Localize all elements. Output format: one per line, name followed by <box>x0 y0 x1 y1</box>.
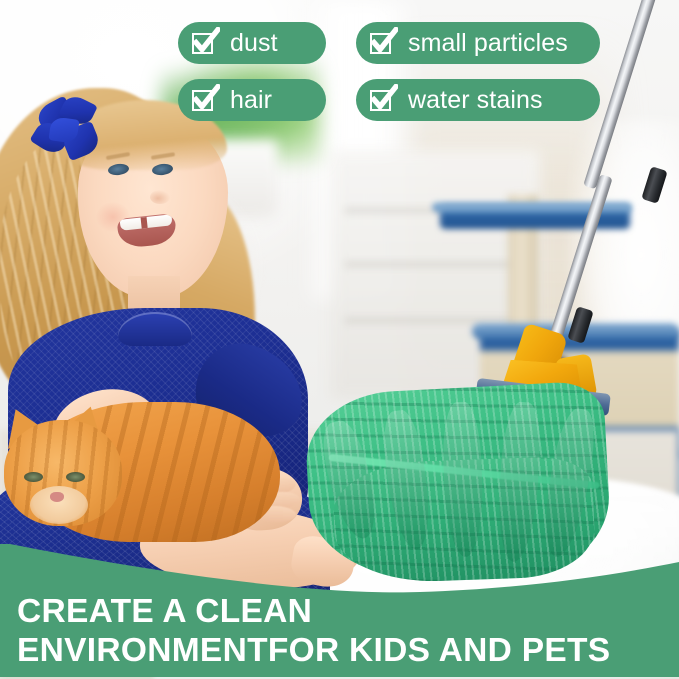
feature-badge-label: hair <box>230 86 272 115</box>
feature-badge-dust[interactable]: dust <box>178 22 326 64</box>
feature-badge-row: dust small particles <box>178 22 608 64</box>
checkbox-checked-icon <box>370 88 395 113</box>
feature-badge-hair[interactable]: hair <box>178 79 326 121</box>
checkbox-checked-icon <box>192 31 217 56</box>
mop-handle-collar <box>641 166 667 204</box>
girl-nose <box>150 190 170 204</box>
feature-badge-label: water stains <box>408 86 543 115</box>
feature-badge-label: small particles <box>408 29 568 58</box>
bottom-green-banner: CREATE A CLEAN ENVIRONMENTFOR KIDS AND P… <box>0 544 679 679</box>
cat-eye-left <box>24 472 43 482</box>
feature-badge-small-particles[interactable]: small particles <box>356 22 600 64</box>
banner-headline: CREATE A CLEAN ENVIRONMENTFOR KIDS AND P… <box>17 592 677 671</box>
banner-headline-line1: CREATE A CLEAN <box>17 592 677 632</box>
banner-headline-line2: ENVIRONMENTFOR KIDS AND PETS <box>17 631 677 671</box>
cat-nose <box>50 492 64 502</box>
checkbox-checked-icon <box>192 88 217 113</box>
checkbox-checked-icon <box>370 31 395 56</box>
mop-handle-collar <box>567 306 593 344</box>
cat-eye-right <box>66 472 85 482</box>
girl-tooth-gap <box>141 217 148 229</box>
feature-badge-label: dust <box>230 29 278 58</box>
feature-badge-group: dust small particles <box>178 22 608 136</box>
feature-badge-water-stains[interactable]: water stains <box>356 79 600 121</box>
blue-flower-hair-bow-icon <box>32 96 106 166</box>
feature-badge-row: hair water stains <box>178 79 608 121</box>
product-feature-image: dust small particles <box>0 0 679 679</box>
